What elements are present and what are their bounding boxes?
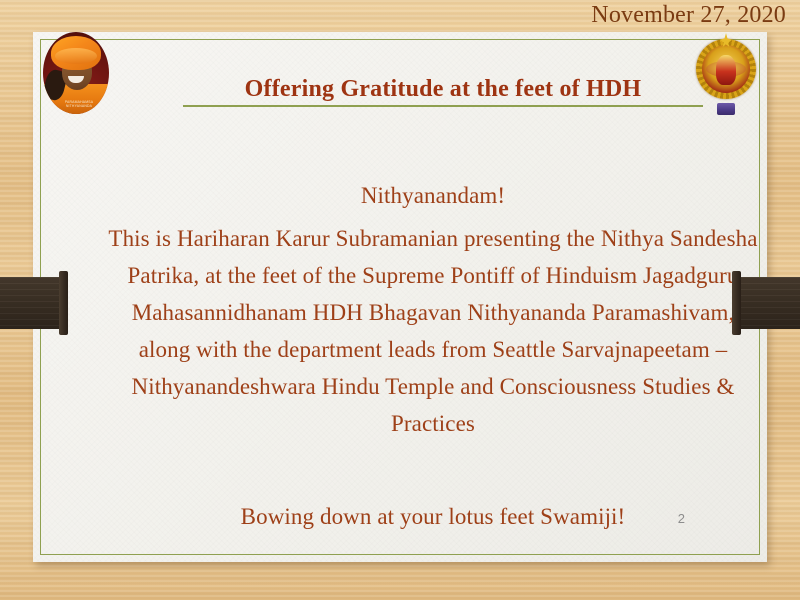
slide-canvas: November 27, 2020 PARAMAHAMSA NITHYANAND… bbox=[0, 0, 800, 600]
emblem-base bbox=[717, 103, 735, 115]
emblem-figure bbox=[716, 55, 736, 85]
body-greeting: Nithyanandam! bbox=[103, 177, 763, 214]
slide-title: Offering Gratitude at the feet of HDH bbox=[183, 76, 703, 103]
body-main-paragraph: This is Hariharan Karur Subramanian pres… bbox=[103, 220, 763, 442]
portrait-caption: PARAMAHAMSA NITHYANANDA bbox=[57, 100, 101, 109]
portrait-circle: PARAMAHAMSA NITHYANANDA bbox=[43, 32, 109, 114]
content-card: PARAMAHAMSA NITHYANANDA Offering Gratitu… bbox=[33, 32, 767, 562]
portrait-turban bbox=[51, 36, 101, 70]
guru-portrait-icon: PARAMAHAMSA NITHYANANDA bbox=[43, 32, 109, 114]
ribbon-tab-right bbox=[732, 271, 741, 335]
ribbon-left bbox=[0, 277, 66, 329]
page-number: 2 bbox=[678, 511, 685, 526]
slide-body: Nithyanandam! This is Hariharan Karur Su… bbox=[103, 177, 763, 535]
title-underline bbox=[183, 105, 703, 108]
slide-date: November 27, 2020 bbox=[591, 2, 786, 29]
ribbon-right bbox=[734, 277, 800, 329]
ribbon-tab-left bbox=[59, 271, 68, 335]
body-closing: Bowing down at your lotus feet Swamiji! bbox=[103, 498, 763, 535]
slide-title-block: Offering Gratitude at the feet of HDH bbox=[183, 76, 703, 107]
